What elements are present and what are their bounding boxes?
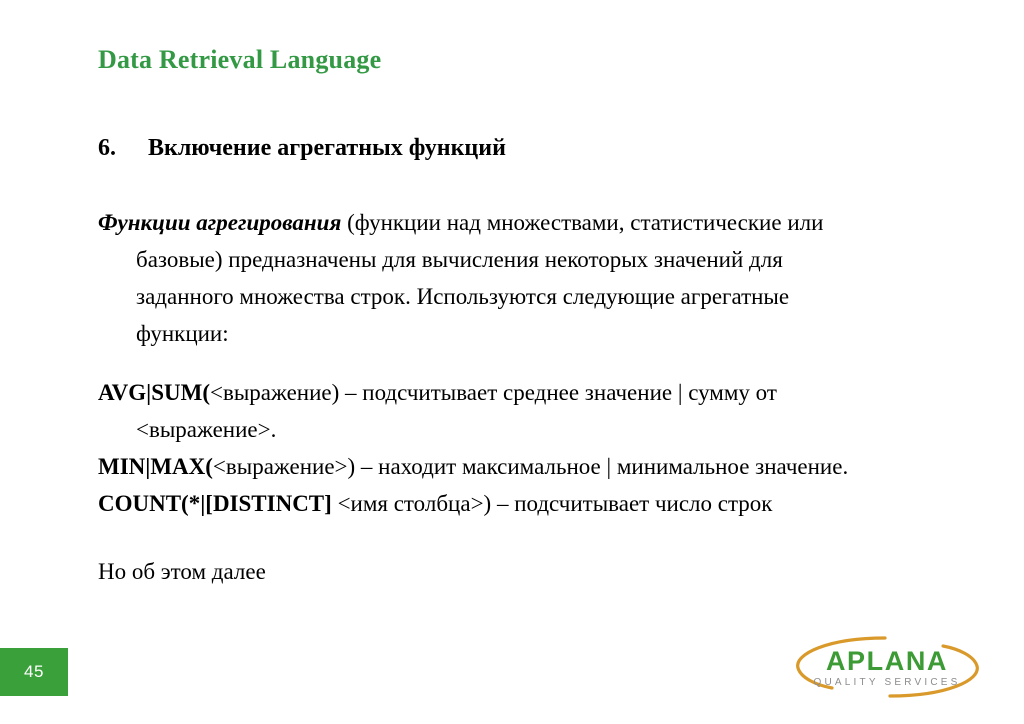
page-number-text: 45 [24, 662, 44, 682]
page-title: Data Retrieval Language [98, 44, 958, 76]
definition-paragraph: Функции агрегирования (функции над множе… [98, 204, 978, 352]
section-heading-number: 6. [98, 133, 148, 163]
function-name-avg-sum: AVG|SUM( [98, 380, 210, 405]
logo-wordmark: APLANA [826, 646, 948, 676]
function-name-min-max: MIN|MAX( [98, 454, 213, 479]
section-heading: 6. Включение агрегатных функций [98, 133, 958, 163]
definition-line-3: заданного множества строк. Используются … [98, 278, 978, 315]
definition-line-1-text: (функции над множествами, статистические… [341, 210, 823, 235]
page-number-badge: 45 [0, 648, 68, 696]
function-entry-min-max: MIN|MAX(<выражение>) – находит максималь… [98, 448, 978, 485]
function-entry-avg-sum: AVG|SUM(<выражение) – подсчитывает средн… [98, 374, 978, 411]
function-desc-min-max: <выражение>) – находит максимальное | ми… [213, 454, 848, 479]
function-desc-avg-sum: <выражение) – подсчитывает среднее значе… [210, 380, 777, 405]
definition-term: Функции агрегирования [98, 210, 341, 235]
definition-line-2: базовые) предназначены для вычисления не… [98, 241, 978, 278]
slide-canvas: Data Retrieval Language 6. Включение агр… [0, 0, 1024, 724]
function-name-count: COUNT(*|[DISTINCT] [98, 491, 332, 516]
function-desc-avg-sum-cont: <выражение>. [98, 411, 978, 448]
aggregate-function-list: AVG|SUM(<выражение) – подсчитывает средн… [98, 374, 978, 522]
aplana-logo: APLANA QUALITY SERVICES [780, 632, 995, 702]
function-entry-count: COUNT(*|[DISTINCT] <имя столбца>) – подс… [98, 485, 978, 522]
definition-line-1: Функции агрегирования (функции над множе… [98, 204, 978, 241]
definition-line-4: функции: [98, 315, 978, 352]
logo-tagline: QUALITY SERVICES [814, 677, 961, 688]
section-heading-text: Включение агрегатных функций [148, 133, 958, 163]
function-desc-count: <имя столбца>) – подсчитывает число стро… [332, 491, 773, 516]
closing-note: Но об этом далее [98, 557, 958, 587]
